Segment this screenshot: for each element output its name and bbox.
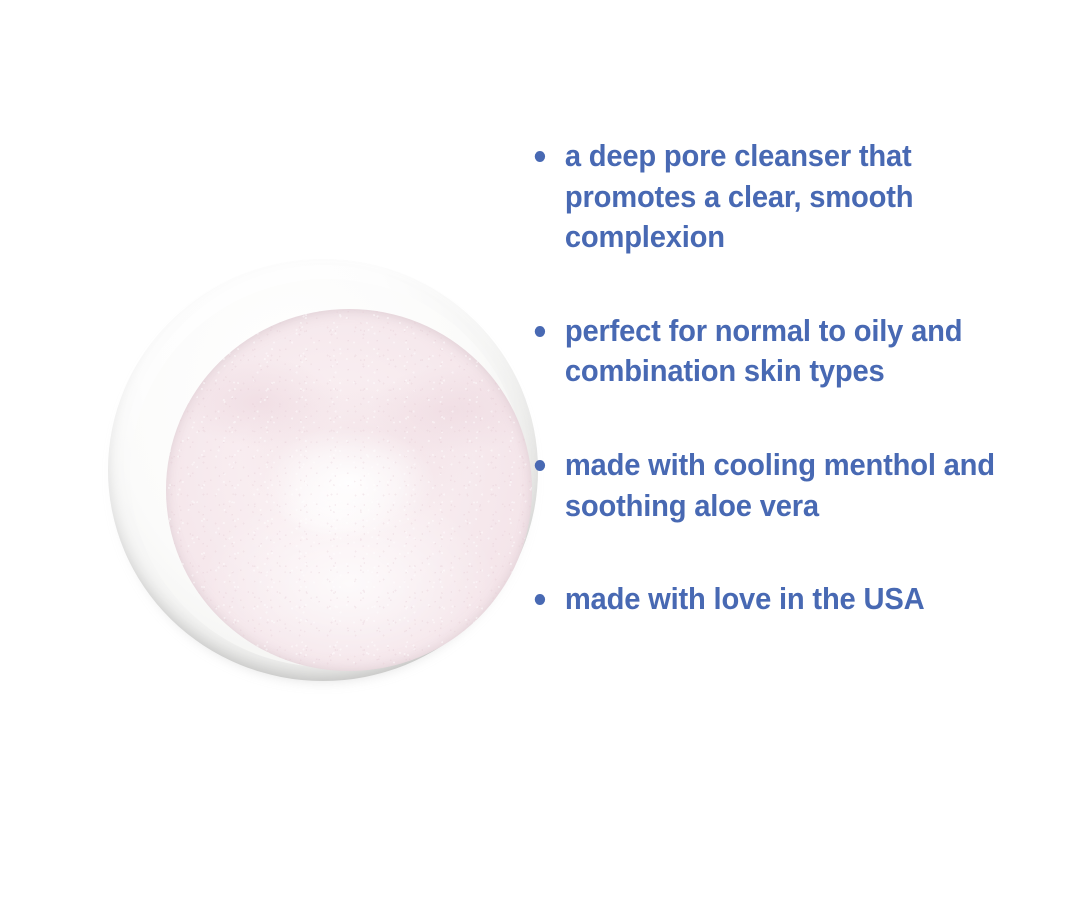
product-feature-panel: a deep pore cleanser that promotes a cle… <box>0 0 1069 913</box>
bullet-dot-icon <box>535 594 545 605</box>
bullet-dot-icon <box>535 326 545 337</box>
powder-fill <box>166 309 532 671</box>
benefit-text: a deep pore cleanser that promotes a cle… <box>565 138 914 254</box>
benefit-text: made with cooling menthol and soothing a… <box>565 447 995 523</box>
benefit-list-item: perfect for normal to oily and combinati… <box>531 311 1037 392</box>
benefit-list-item: made with cooling menthol and soothing a… <box>531 445 1037 526</box>
dish-bowl <box>108 259 538 681</box>
benefit-text: perfect for normal to oily and combinati… <box>565 313 963 389</box>
benefits-list: a deep pore cleanser that promotes a cle… <box>531 136 1069 620</box>
benefit-text: made with love in the USA <box>565 581 925 616</box>
product-image <box>104 255 542 685</box>
bullet-dot-icon <box>535 151 545 162</box>
dish-inner-rim <box>130 279 524 667</box>
benefit-list-item: made with love in the USA <box>531 579 1037 620</box>
bullet-dot-icon <box>535 460 545 471</box>
benefit-list-item: a deep pore cleanser that promotes a cle… <box>531 136 1037 258</box>
powder-grain-texture <box>166 309 532 671</box>
